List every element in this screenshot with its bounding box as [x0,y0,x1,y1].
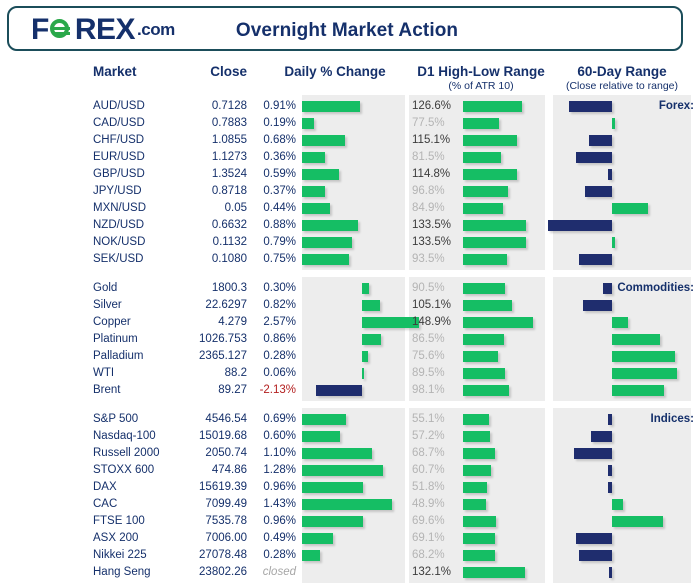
atr-bar [463,135,517,146]
table-row: Nasdaq-10015019.680.60%57.2% [0,428,694,445]
atr-bar [463,482,487,493]
daily-change-value: 0.28% [252,348,296,365]
sixty-day-range-bar [608,414,611,425]
daily-change-bar [362,351,368,362]
table-row: Hang Seng23802.26closed132.1% [0,564,694,581]
atr-value: 55.1% [412,411,458,428]
daily-change-bar [302,152,325,163]
close-price: 2050.74 [175,445,247,462]
atr-bar [463,448,495,459]
sixty-day-range-bar [579,254,612,265]
daily-change-value: 0.69% [252,411,296,428]
daily-change-bar [362,334,381,345]
daily-change-bar [302,550,320,561]
sixty-day-range-bar [548,220,611,231]
daily-change-bar [362,283,369,294]
close-price: 4546.54 [175,411,247,428]
sixty-day-range-bar [612,203,648,214]
atr-bar [463,499,486,510]
daily-change-bar [302,431,340,442]
atr-bar [463,300,512,311]
atr-value: 48.9% [412,496,458,513]
market-dashboard: FREX.com Overnight Market Action Market … [0,0,694,538]
table-row: STOXX 600474.861.28%60.7% [0,462,694,479]
atr-value: 68.7% [412,445,458,462]
sixty-day-range-bar [612,334,660,345]
close-price: 0.05 [175,200,247,217]
table-row: FTSE 1007535.780.96%69.6% [0,513,694,530]
atr-bar [463,317,533,328]
close-price: 0.1132 [175,234,247,251]
table-row: EUR/USD1.12730.36%81.5% [0,149,694,166]
atr-bar [463,203,503,214]
sixty-day-range-bar [589,135,612,146]
daily-change-bar [302,254,349,265]
daily-change-value: 0.75% [252,251,296,268]
table-row: ASX 2007006.000.49%69.1% [0,530,694,547]
close-price: 7099.49 [175,496,247,513]
daily-change-value: 0.82% [252,297,296,314]
atr-value: 105.1% [412,297,458,314]
atr-bar [463,334,504,345]
close-price: 2365.127 [175,348,247,365]
daily-change-bar [302,482,363,493]
atr-value: 98.1% [412,382,458,399]
atr-bar [463,431,490,442]
daily-change-value: 0.49% [252,530,296,547]
sixty-day-range-bar [612,368,677,379]
daily-change-value: 1.28% [252,462,296,479]
sixty-day-range-bar [585,186,611,197]
atr-value: 93.5% [412,251,458,268]
daily-change-bar [302,118,314,129]
daily-change-value: 0.28% [252,547,296,564]
table-row: DAX15619.390.96%51.8% [0,479,694,496]
atr-bar [463,237,526,248]
atr-value: 132.1% [412,564,458,581]
close-price: 0.7883 [175,115,247,132]
close-price: 0.7128 [175,98,247,115]
table-row: Russell 20002050.741.10%68.7% [0,445,694,462]
close-price: 7006.00 [175,530,247,547]
table-row: GBP/USD1.35240.59%114.8% [0,166,694,183]
table-row: Nikkei 22527078.480.28%68.2% [0,547,694,564]
daily-change-value: -2.13% [252,382,296,399]
daily-change-value: 0.88% [252,217,296,234]
table-row: CHF/USD1.08550.68%115.1% [0,132,694,149]
table-row: Silver22.62970.82%105.1% [0,297,694,314]
sixty-day-range-bar [608,169,612,180]
atr-value: 77.5% [412,115,458,132]
sixty-day-range-bar [612,118,615,129]
close-price: 0.1080 [175,251,247,268]
atr-value: 60.7% [412,462,458,479]
daily-change-value: 2.57% [252,314,296,331]
table-row: Commodities:Gold1800.30.30%90.5% [0,280,694,297]
atr-value: 57.2% [412,428,458,445]
atr-bar [463,465,491,476]
daily-change-bar [302,186,325,197]
daily-change-value: 0.86% [252,331,296,348]
table-row: Brent89.27-2.13%98.1% [0,382,694,399]
atr-value: 69.6% [412,513,458,530]
daily-change-value: 1.10% [252,445,296,462]
daily-change-bar [362,317,418,328]
daily-change-bar [362,300,380,311]
daily-change-bar [302,448,372,459]
sixty-day-range-bar [603,283,611,294]
atr-value: 96.8% [412,183,458,200]
daily-change-bar [302,237,352,248]
daily-change-value: closed [252,564,296,581]
atr-value: 133.5% [412,217,458,234]
daily-change-value: 0.30% [252,280,296,297]
sixty-day-range-bar [612,317,629,328]
daily-change-bar [302,414,346,425]
atr-bar [463,152,501,163]
atr-bar [463,169,517,180]
daily-change-bar [302,203,330,214]
atr-bar [463,550,495,561]
atr-bar [463,567,525,578]
atr-value: 68.2% [412,547,458,564]
close-price: 23802.26 [175,564,247,581]
atr-bar [463,118,499,129]
daily-change-value: 0.60% [252,428,296,445]
atr-bar [463,186,508,197]
close-price: 15619.39 [175,479,247,496]
table-row: SEK/USD0.10800.75%93.5% [0,251,694,268]
table-row: NZD/USD0.66320.88%133.5% [0,217,694,234]
sixty-day-range-bar [576,533,612,544]
table-row: Copper4.2792.57%148.9% [0,314,694,331]
daily-change-bar [302,220,358,231]
atr-value: 81.5% [412,149,458,166]
atr-value: 51.8% [412,479,458,496]
atr-bar [463,351,498,362]
sixty-day-range-bar [612,385,664,396]
daily-change-bar [302,135,345,146]
sixty-day-range-bar [579,550,612,561]
close-price: 1.0855 [175,132,247,149]
close-price: 4.279 [175,314,247,331]
daily-change-bar [302,101,360,112]
atr-value: 148.9% [412,314,458,331]
daily-change-bar [302,533,333,544]
table-row: Palladium2365.1270.28%75.6% [0,348,694,365]
table-row: Indices:S&P 5004546.540.69%55.1% [0,411,694,428]
daily-change-value: 0.06% [252,365,296,382]
daily-change-value: 0.91% [252,98,296,115]
market-table: Forex:AUD/USD0.71280.91%126.6%CAD/USD0.7… [0,0,694,538]
atr-value: 89.5% [412,365,458,382]
sixty-day-range-bar [608,482,612,493]
atr-bar [463,101,522,112]
daily-change-bar [302,499,392,510]
close-price: 1026.753 [175,331,247,348]
sixty-day-range-bar [612,516,664,527]
atr-bar [463,385,509,396]
daily-change-value: 0.59% [252,166,296,183]
daily-change-value: 0.68% [252,132,296,149]
daily-change-value: 0.96% [252,479,296,496]
sixty-day-range-bar [608,465,611,476]
close-price: 15019.68 [175,428,247,445]
atr-bar [463,368,505,379]
atr-bar [463,516,496,527]
atr-value: 84.9% [412,200,458,217]
table-row: Platinum1026.7530.86%86.5% [0,331,694,348]
daily-change-bar [302,169,339,180]
atr-bar [463,254,507,265]
table-row: JPY/USD0.87180.37%96.8% [0,183,694,200]
atr-bar [463,220,526,231]
daily-change-bar [362,368,364,379]
table-row: CAC7099.491.43%48.9% [0,496,694,513]
sixty-day-range-bar [612,237,615,248]
sixty-day-range-bar [569,101,612,112]
daily-change-value: 0.36% [252,149,296,166]
table-row: WTI88.20.06%89.5% [0,365,694,382]
sixty-day-range-bar [612,351,675,362]
atr-value: 75.6% [412,348,458,365]
atr-bar [463,533,495,544]
sixty-day-range-bar [583,300,612,311]
sixty-day-range-bar [574,448,611,459]
table-row: Forex:AUD/USD0.71280.91%126.6% [0,98,694,115]
atr-value: 69.1% [412,530,458,547]
atr-value: 133.5% [412,234,458,251]
table-row: MXN/USD0.050.44%84.9% [0,200,694,217]
atr-bar [463,414,489,425]
daily-change-bar [302,465,383,476]
sixty-day-range-bar [591,431,612,442]
close-price: 474.86 [175,462,247,479]
sixty-day-range-bar [576,152,612,163]
close-price: 27078.48 [175,547,247,564]
close-price: 89.27 [175,382,247,399]
daily-change-value: 0.79% [252,234,296,251]
daily-change-value: 1.43% [252,496,296,513]
close-price: 1800.3 [175,280,247,297]
daily-change-value: 0.37% [252,183,296,200]
table-row: NOK/USD0.11320.79%133.5% [0,234,694,251]
daily-change-bar [302,516,363,527]
daily-change-value: 0.96% [252,513,296,530]
close-price: 1.1273 [175,149,247,166]
sixty-day-range-bar [609,567,612,578]
atr-value: 126.6% [412,98,458,115]
sixty-day-range-bar [612,499,623,510]
close-price: 88.2 [175,365,247,382]
atr-value: 115.1% [412,132,458,149]
atr-value: 86.5% [412,331,458,348]
table-row: CAD/USD0.78830.19%77.5% [0,115,694,132]
close-price: 0.8718 [175,183,247,200]
daily-change-value: 0.44% [252,200,296,217]
close-price: 1.3524 [175,166,247,183]
atr-bar [463,283,505,294]
atr-value: 114.8% [412,166,458,183]
close-price: 7535.78 [175,513,247,530]
atr-value: 90.5% [412,280,458,297]
close-price: 22.6297 [175,297,247,314]
daily-change-value: 0.19% [252,115,296,132]
close-price: 0.6632 [175,217,247,234]
daily-change-bar [316,385,363,396]
